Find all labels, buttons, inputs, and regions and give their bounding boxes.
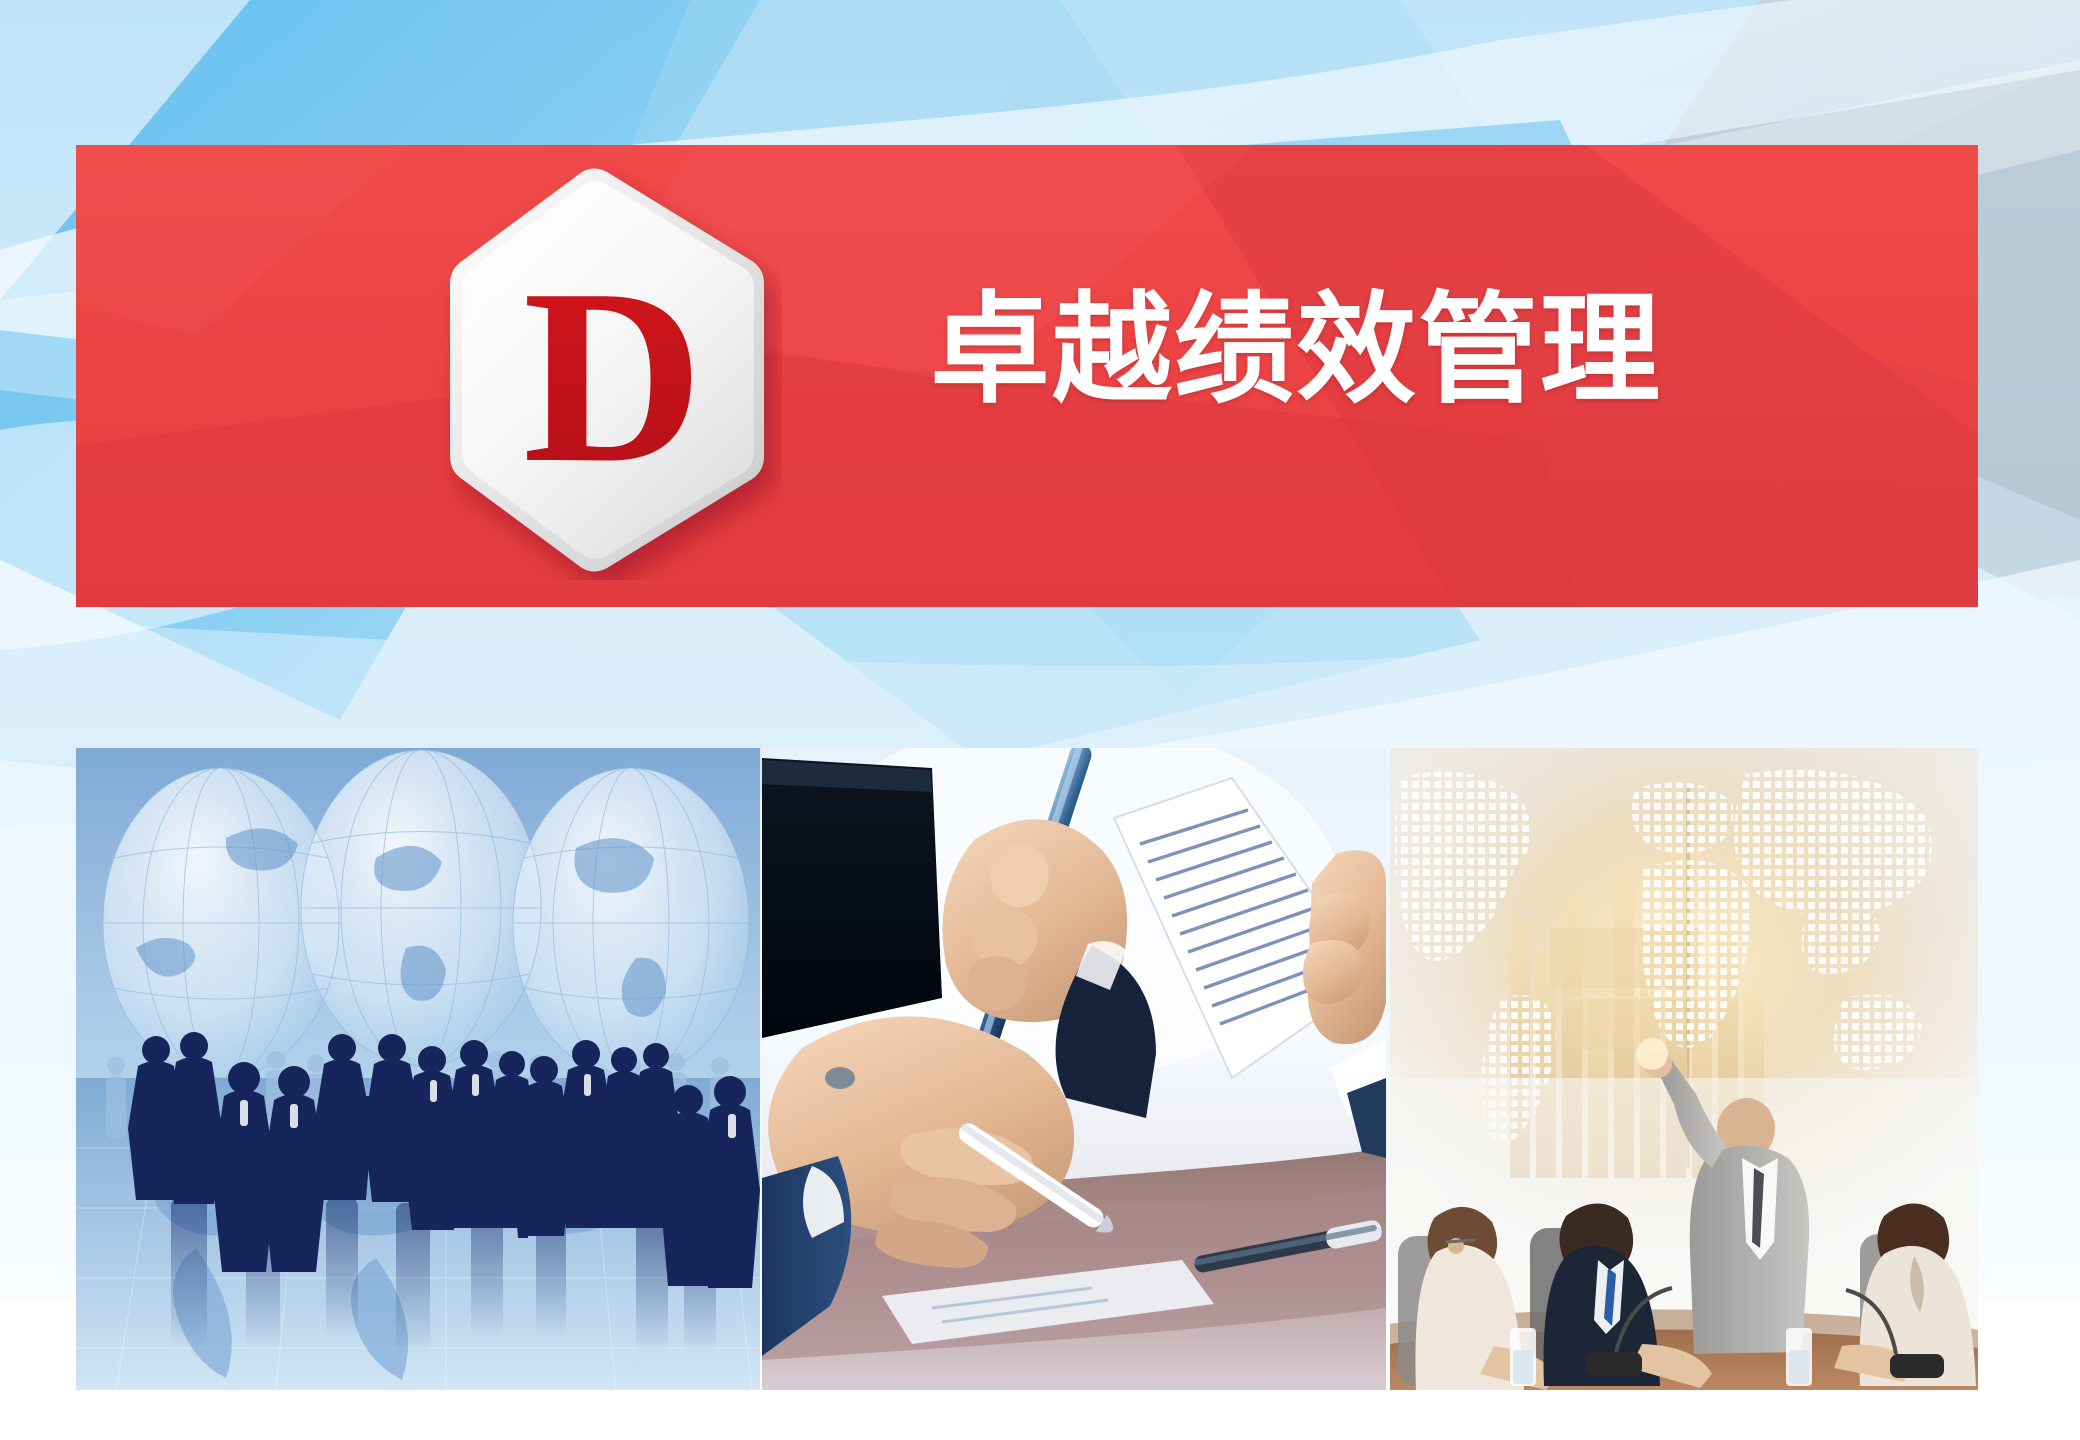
- photo-contract-signing-hands: [762, 748, 1386, 1390]
- slide-canvas: D 卓越绩效管理: [0, 0, 2080, 1440]
- global-business-people-image: [76, 748, 760, 1390]
- photo-global-business-people: [76, 748, 760, 1390]
- contract-signing-hands-image: [762, 748, 1386, 1390]
- boardroom-world-map-image: [1390, 748, 1978, 1390]
- page-title: 卓越绩效管理: [930, 290, 1662, 410]
- svg-text:D: D: [523, 238, 704, 515]
- hexagon-logo: D: [432, 160, 782, 580]
- hexagon-d-icon: D: [432, 160, 782, 580]
- photo-boardroom-world-map-presentation: [1390, 748, 1978, 1390]
